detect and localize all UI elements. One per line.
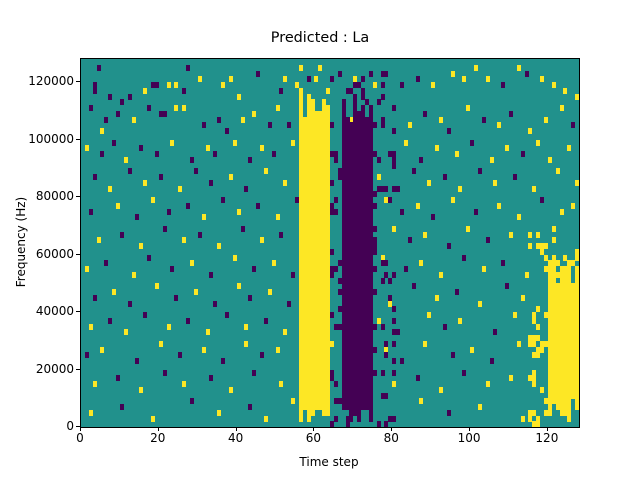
spectrogram-cell	[151, 416, 155, 422]
spectrogram-band-cell	[326, 289, 330, 295]
spectrogram-cell	[575, 94, 579, 100]
spectrogram-cell	[186, 65, 190, 71]
spectrogram-cell	[170, 266, 174, 272]
spectrogram-cell	[291, 398, 295, 404]
spectrogram-band-cell	[334, 197, 338, 203]
spectrogram-band-cell	[548, 404, 552, 410]
spectrogram-cell	[237, 94, 241, 100]
spectrogram-cell	[244, 186, 248, 192]
spectrogram-band-cell	[377, 99, 381, 105]
spectrogram-band-cell	[369, 140, 373, 146]
x-tick-label: 120	[517, 432, 577, 444]
spectrogram-band-cell	[575, 341, 579, 347]
spectrogram-cell	[244, 341, 248, 347]
spectrogram-cell	[112, 140, 116, 146]
spectrogram-cell	[419, 260, 423, 266]
spectrogram-band-cell	[392, 341, 396, 347]
spectrogram-cell	[509, 232, 513, 238]
spectrogram-cell	[455, 151, 459, 157]
spectrogram-band-cell	[369, 168, 373, 174]
spectrogram-band-cell	[369, 387, 373, 393]
spectrogram-band-cell	[338, 289, 342, 295]
y-tick-mark	[76, 139, 80, 140]
spectrogram-cell	[209, 180, 213, 186]
spectrogram-band-cell	[299, 105, 303, 111]
spectrogram-cell	[85, 266, 89, 272]
spectrogram-cell	[225, 128, 229, 134]
spectrogram-band-cell	[326, 226, 330, 232]
spectrogram-cell	[252, 370, 256, 376]
spectrogram-band-cell	[392, 163, 396, 169]
spectrogram-band-cell	[556, 283, 560, 289]
spectrogram-cell	[400, 82, 404, 88]
spectrogram-band-cell	[353, 94, 357, 100]
spectrogram-cell	[264, 318, 268, 324]
spectrogram-band-cell	[326, 140, 330, 146]
spectrogram-cell	[182, 105, 186, 111]
spectrogram-band-cell	[575, 318, 579, 324]
spectrogram-cell	[377, 174, 381, 180]
spectrogram-band-cell	[369, 358, 373, 364]
spectrogram-band-cell	[384, 421, 388, 427]
spectrogram-cell	[439, 117, 443, 123]
spectrogram-cell	[419, 398, 423, 404]
spectrogram-band-cell	[346, 306, 350, 312]
spectrogram-band-cell	[536, 232, 540, 238]
spectrogram-cell	[571, 203, 575, 209]
spectrogram-band-cell	[373, 226, 377, 232]
spectrogram-cell	[462, 255, 466, 261]
spectrogram-cell	[241, 226, 245, 232]
spectrogram-band-cell	[575, 278, 579, 284]
x-tick-label: 20	[128, 432, 188, 444]
spectrogram-band-cell	[392, 416, 396, 422]
spectrogram-cell	[89, 324, 93, 330]
spectrogram-cell	[283, 180, 287, 186]
spectrogram-band-cell	[346, 421, 350, 427]
spectrogram-band-cell	[334, 151, 338, 157]
spectrogram-cell	[128, 168, 132, 174]
spectrogram-band-cell	[384, 260, 388, 266]
spectrogram-band-cell	[299, 99, 303, 105]
spectrogram-band-cell	[326, 186, 330, 192]
spectrogram-cell	[330, 122, 334, 128]
spectrogram-cell	[435, 145, 439, 151]
spectrogram-cell	[544, 117, 548, 123]
spectrogram-cell	[100, 128, 104, 134]
spectrogram-cell	[100, 151, 104, 157]
spectrogram-band-cell	[571, 324, 575, 330]
y-tick-mark	[76, 254, 80, 255]
spectrogram-cell	[260, 145, 264, 151]
spectrogram-band-cell	[326, 214, 330, 220]
spectrogram-band-cell	[326, 232, 330, 238]
spectrogram-band-cell	[311, 410, 315, 416]
spectrogram-cell	[447, 410, 451, 416]
spectrogram-band-cell	[326, 105, 330, 111]
spectrogram-band-cell	[560, 266, 564, 272]
spectrogram-cell	[93, 381, 97, 387]
spectrogram-cell	[116, 203, 120, 209]
spectrogram-cell	[509, 375, 513, 381]
spectrogram-cell	[237, 283, 241, 289]
spectrogram-cell	[174, 295, 178, 301]
spectrogram-cell	[416, 203, 420, 209]
spectrogram-cell	[256, 203, 260, 209]
spectrogram-band-cell	[560, 393, 564, 399]
spectrogram-band-cell	[532, 318, 536, 324]
spectrogram-cell	[517, 341, 521, 347]
spectrogram-cell	[221, 82, 225, 88]
spectrogram-band-cell	[575, 255, 579, 261]
spectrogram-band-cell	[544, 312, 548, 318]
spectrogram-band-cell	[369, 295, 373, 301]
spectrogram-band-cell	[392, 318, 396, 324]
x-tick-label: 60	[283, 432, 343, 444]
spectrogram-band-cell	[342, 398, 346, 404]
spectrogram-band-cell	[299, 416, 303, 422]
spectrogram-cell	[400, 209, 404, 215]
spectrogram-band-cell	[575, 272, 579, 278]
spectrogram-band-cell	[567, 416, 571, 422]
spectrogram-cell	[462, 370, 466, 376]
spectrogram-cell	[575, 180, 579, 186]
x-tick-mark	[313, 427, 314, 431]
spectrogram-band-cell	[299, 410, 303, 416]
spectrogram-cell	[373, 82, 377, 88]
spectrogram-cell	[116, 111, 120, 117]
spectrogram-band-cell	[342, 122, 346, 128]
spectrogram-band-cell	[369, 209, 373, 215]
spectrogram-band-cell	[346, 393, 350, 399]
spectrogram-cell	[159, 174, 163, 180]
spectrogram-band-cell	[361, 404, 365, 410]
spectrogram-cell	[505, 145, 509, 151]
spectrogram-cell	[139, 387, 143, 393]
spectrogram-cell	[326, 88, 330, 94]
spectrogram-band-cell	[571, 260, 575, 266]
spectrogram-cell	[560, 105, 564, 111]
spectrogram-cell	[490, 157, 494, 163]
spectrogram-band-cell	[365, 364, 369, 370]
spectrogram-band-cell	[532, 381, 536, 387]
spectrogram-band-cell	[369, 111, 373, 117]
spectrogram-cell	[521, 295, 525, 301]
spectrogram-cell	[93, 174, 97, 180]
spectrogram-band-cell	[334, 416, 338, 422]
spectrogram-cell	[513, 174, 517, 180]
spectrogram-cell	[139, 145, 143, 151]
spectrogram-band-cell	[353, 99, 357, 105]
spectrogram-cell	[439, 387, 443, 393]
spectrogram-band-cell	[552, 387, 556, 393]
spectrogram-cell	[132, 117, 136, 123]
spectrogram-band-cell	[369, 163, 373, 169]
spectrogram-band-cell	[369, 180, 373, 186]
spectrogram-band-cell	[326, 122, 330, 128]
spectrogram-band-cell	[373, 289, 377, 295]
x-tick-label: 80	[361, 432, 421, 444]
x-tick-mark	[469, 427, 470, 431]
spectrogram-band-cell	[575, 249, 579, 255]
spectrogram-cell	[431, 214, 435, 220]
spectrogram-cell	[287, 122, 291, 128]
spectrogram-band-cell	[346, 203, 350, 209]
spectrogram-cell	[314, 76, 318, 82]
spectrogram-band-cell	[571, 387, 575, 393]
spectrogram-band-cell	[330, 266, 334, 272]
spectrogram-cell	[412, 168, 416, 174]
spectrogram-band-cell	[330, 370, 334, 376]
spectrogram-cell	[276, 214, 280, 220]
spectrogram-cell	[89, 105, 93, 111]
spectrogram-cell	[163, 370, 167, 376]
spectrogram-cell	[287, 301, 291, 307]
spectrogram-band-cell	[326, 111, 330, 117]
spectrogram-cell	[229, 387, 233, 393]
spectrogram-cell	[540, 197, 544, 203]
spectrogram-cell	[412, 283, 416, 289]
spectrogram-band-cell	[369, 278, 373, 284]
spectrogram-cell	[229, 76, 233, 82]
x-tick-label: 100	[439, 432, 499, 444]
plot-title: Predicted : La	[0, 30, 640, 46]
spectrogram-band-cell	[326, 283, 330, 289]
spectrogram-band-cell	[349, 404, 353, 410]
spectrogram-band-cell	[353, 140, 357, 146]
spectrogram-band-cell	[326, 352, 330, 358]
spectrogram-band-cell	[381, 71, 385, 77]
spectrogram-band-cell	[361, 105, 365, 111]
spectrogram-band-cell	[392, 370, 396, 376]
spectrogram-cell	[128, 301, 132, 307]
spectrogram-cell	[124, 329, 128, 335]
spectrogram-cell	[552, 226, 556, 232]
spectrogram-band-cell	[346, 117, 350, 123]
spectrogram-band-cell	[353, 272, 357, 278]
spectrogram-band-cell	[575, 364, 579, 370]
spectrogram-band-cell	[381, 94, 385, 100]
spectrogram-band-cell	[528, 243, 532, 249]
spectrogram-cell	[104, 260, 108, 266]
spectrogram-cell	[447, 128, 451, 134]
spectrogram-band-cell	[540, 347, 544, 353]
spectrogram-cell	[268, 122, 272, 128]
spectrogram-band-cell	[311, 99, 315, 105]
spectrogram-band-cell	[369, 352, 373, 358]
spectrogram-cell	[100, 347, 104, 353]
spectrogram-cell	[209, 272, 213, 278]
spectrogram-band-cell	[334, 157, 338, 163]
spectrogram-cell	[279, 381, 283, 387]
spectrogram-band-cell	[381, 370, 385, 376]
spectrogram-cell	[486, 381, 490, 387]
spectrogram-band-cell	[528, 232, 532, 238]
spectrogram-cell	[252, 266, 256, 272]
spectrogram-band-cell	[326, 128, 330, 134]
spectrogram-band-cell	[575, 352, 579, 358]
spectrogram-band-cell	[381, 117, 385, 123]
spectrogram-band-cell	[326, 318, 330, 324]
spectrogram-band-cell	[560, 404, 564, 410]
spectrogram-cell	[276, 347, 280, 353]
spectrogram-cell	[486, 76, 490, 82]
spectrogram-band-cell	[392, 329, 396, 335]
spectrogram-band-cell	[338, 260, 342, 266]
spectrogram-cell	[120, 232, 124, 238]
spectrogram-cell	[330, 341, 334, 347]
spectrogram-band-cell	[326, 255, 330, 261]
spectrogram-band-cell	[536, 416, 540, 422]
spectrogram-cell	[307, 76, 311, 82]
spectrogram-band-cell	[357, 335, 361, 341]
spectrogram-band-cell	[346, 341, 350, 347]
spectrogram-cell	[567, 145, 571, 151]
spectrogram-cell	[209, 375, 213, 381]
spectrogram-cell	[517, 214, 521, 220]
spectrogram-cell	[217, 243, 221, 249]
spectrogram-cell	[237, 209, 241, 215]
spectrogram-band-cell	[384, 352, 388, 358]
spectrogram-band-cell	[357, 283, 361, 289]
spectrogram-cell	[147, 255, 151, 261]
spectrogram-band-cell	[560, 318, 564, 324]
spectrogram-cell	[206, 145, 210, 151]
spectrogram-cell	[392, 381, 396, 387]
spectrogram-cell	[571, 122, 575, 128]
spectrogram-band-cell	[349, 335, 353, 341]
spectrogram-cell	[182, 237, 186, 243]
spectrogram-cell	[482, 266, 486, 272]
spectrogram-band-cell	[369, 214, 373, 220]
spectrogram-band-cell	[369, 416, 373, 422]
spectrogram-cell	[423, 341, 427, 347]
spectrogram-band-cell	[369, 255, 373, 261]
spectrogram-cell	[198, 76, 202, 82]
spectrogram-band-cell	[377, 421, 381, 427]
spectrogram-cell	[108, 186, 112, 192]
spectrogram-band-cell	[326, 163, 330, 169]
spectrogram-cell	[427, 180, 431, 186]
spectrogram-cell	[509, 111, 513, 117]
spectrogram-band-cell	[330, 76, 334, 82]
spectrogram-cell	[260, 352, 264, 358]
x-tick-mark	[391, 427, 392, 431]
spectrogram-cell	[248, 295, 252, 301]
spectrogram-cell	[501, 82, 505, 88]
spectrogram-cell	[178, 352, 182, 358]
spectrogram-cell	[202, 347, 206, 353]
spectrogram-cell	[206, 329, 210, 335]
spectrogram-band-cell	[369, 398, 373, 404]
spectrogram-cell	[248, 404, 252, 410]
spectrogram-cell	[120, 99, 124, 105]
spectrogram-cell	[478, 168, 482, 174]
spectrogram-band-cell	[369, 174, 373, 180]
spectrogram-cell	[135, 358, 139, 364]
spectrogram-band-cell	[326, 220, 330, 226]
spectrogram-cell	[462, 76, 466, 82]
spectrogram-band-cell	[326, 393, 330, 399]
spectrogram-cell	[213, 301, 217, 307]
spectrogram-cell	[536, 324, 540, 330]
spectrogram-band-cell	[353, 243, 357, 249]
spectrogram-band-cell	[326, 387, 330, 393]
spectrogram-cell	[361, 76, 365, 82]
spectrogram-cell	[276, 105, 280, 111]
spectrogram-cell	[213, 151, 217, 157]
spectrogram-band-cell	[392, 151, 396, 157]
spectrogram-cell	[478, 404, 482, 410]
spectrogram-band-cell	[338, 306, 342, 312]
spectrogram-cell	[252, 111, 256, 117]
spectrogram-cell	[221, 358, 225, 364]
spectrogram-cell	[493, 329, 497, 335]
spectrogram-cell	[272, 260, 276, 266]
spectrogram-band-cell	[326, 335, 330, 341]
y-axis-tick-labels: 020000400006000080000100000120000	[0, 0, 74, 480]
spectrogram-band-cell	[567, 398, 571, 404]
spectrogram-band-cell	[532, 370, 536, 376]
spectrogram-cell	[513, 312, 517, 318]
spectrogram-band-cell	[326, 341, 330, 347]
spectrogram-band-cell	[369, 301, 373, 307]
spectrogram-cell	[217, 410, 221, 416]
spectrogram-cell	[291, 140, 295, 146]
spectrogram-cell	[93, 88, 97, 94]
spectrogram-cell	[167, 324, 171, 330]
spectrogram-cell	[221, 197, 225, 203]
x-tick-mark	[158, 427, 159, 431]
spectrogram-band-cell	[552, 289, 556, 295]
spectrogram-band-cell	[349, 157, 353, 163]
spectrogram-cell	[404, 140, 408, 146]
spectrogram-cell	[427, 312, 431, 318]
spectrogram-band-cell	[342, 99, 346, 105]
spectrogram-cell	[451, 352, 455, 358]
spectrogram-cell	[190, 157, 194, 163]
spectrogram-cell	[194, 168, 198, 174]
spectrogram-band-cell	[299, 88, 303, 94]
spectrogram-band-cell	[338, 278, 342, 284]
spectrogram-band-cell	[548, 410, 552, 416]
spectrogram-cell	[147, 105, 151, 111]
spectrogram-band-cell	[560, 370, 564, 376]
spectrogram-cells	[81, 59, 579, 427]
spectrogram-cell	[525, 272, 529, 278]
spectrogram-cell	[202, 214, 206, 220]
spectrogram-cell	[97, 237, 101, 243]
spectrogram-band-cell	[373, 249, 377, 255]
spectrogram-band-cell	[365, 393, 369, 399]
spectrogram-band-cell	[326, 117, 330, 123]
spectrogram-band-cell	[326, 404, 330, 410]
spectrogram-cell	[112, 289, 116, 295]
spectrogram-band-cell	[353, 226, 357, 232]
spectrogram-cell	[318, 65, 322, 71]
spectrogram-cell	[167, 209, 171, 215]
spectrogram-cell	[155, 283, 159, 289]
spectrogram-band-cell	[326, 381, 330, 387]
spectrogram-band-cell	[326, 301, 330, 307]
spectrogram-cell	[186, 203, 190, 209]
spectrogram-band-cell	[536, 306, 540, 312]
spectrogram-band-cell	[326, 197, 330, 203]
spectrogram-band-cell	[334, 381, 338, 387]
spectrogram-cell	[163, 111, 167, 117]
spectrogram-band-cell	[552, 335, 556, 341]
y-tick-mark	[76, 196, 80, 197]
